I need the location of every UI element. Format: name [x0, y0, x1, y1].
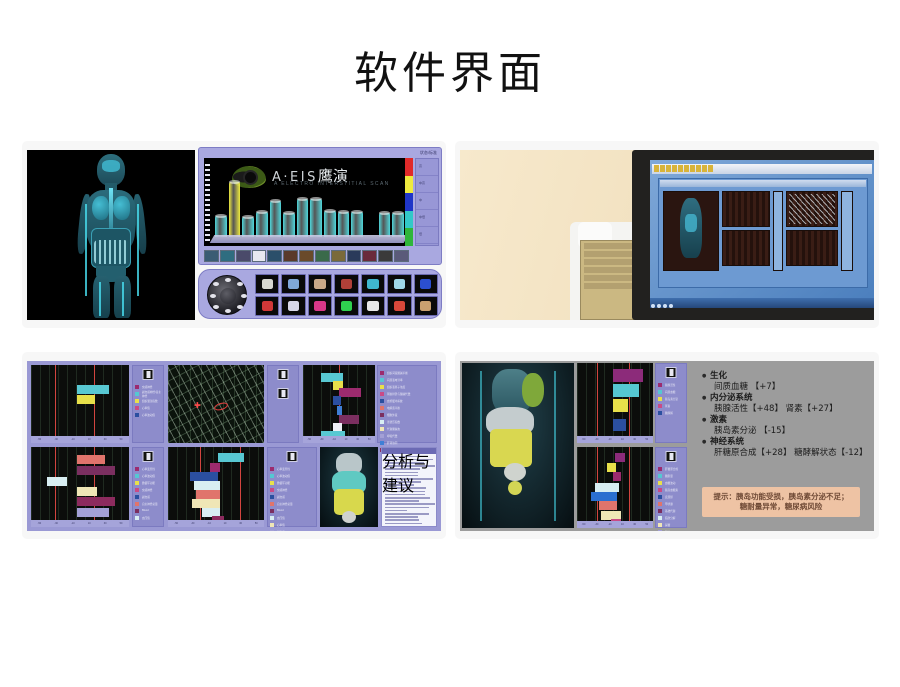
torso-3d-view[interactable]: [320, 447, 378, 527]
tool-glyph: [314, 279, 325, 289]
legend-swatch: [270, 488, 274, 492]
scale-swatch: [405, 176, 413, 194]
tool-icon-14[interactable]: [414, 296, 438, 316]
scale-row[interactable]: 中高: [416, 176, 438, 193]
legend-swatch: [658, 411, 662, 415]
legend-item[interactable]: 肝糖原合成: [656, 465, 686, 472]
legend-item[interactable]: 酮体: [656, 528, 686, 531]
chart-x-axis: -50-30-10103050: [303, 436, 375, 443]
tool-icon-10[interactable]: [308, 296, 332, 316]
legend-swatch: [135, 385, 139, 389]
vein-right: [554, 371, 556, 521]
report-text-line: [385, 523, 422, 525]
legend-swatch: [380, 434, 384, 438]
legend-panel-5[interactable]: 心率变异性心率波动值微循环功能交感神经副交感自主神经总量Blood血压值心率值代…: [267, 447, 317, 527]
os-titlebar: [652, 164, 872, 174]
interpretation-charts[interactable]: -50-30-10103050 -50-30-1010: [577, 363, 653, 528]
tool-icon-grid[interactable]: [255, 274, 438, 316]
scan-lines: [789, 194, 835, 224]
report-icon[interactable]: [278, 369, 289, 380]
tool-glyph: [262, 301, 273, 311]
legend-item[interactable]: Blood: [133, 507, 163, 514]
legend-item[interactable]: 代谢酸碱态: [378, 425, 436, 432]
tool-glyph: [288, 301, 299, 311]
legend-swatch: [658, 502, 662, 506]
tool-glyph: [420, 279, 431, 289]
chart-x-axis: -50-30-10103050: [577, 436, 653, 443]
bar: [599, 501, 617, 510]
chart-y-axis: [205, 164, 210, 242]
report-text-line: [385, 513, 429, 515]
bar: [192, 499, 220, 508]
bar: [215, 216, 227, 237]
bar: [77, 385, 109, 394]
legend-item[interactable]: 血压值: [268, 514, 316, 521]
avatar-vein-right: [137, 204, 139, 296]
pane-scan-a: [722, 191, 770, 227]
bar: [392, 213, 404, 237]
legend-swatch: [380, 427, 384, 431]
legend-item[interactable]: 胰岛素分泌: [656, 395, 686, 402]
chart-panel-2[interactable]: -50-30-10103050: [303, 365, 375, 443]
interpretation-legends[interactable]: 胰腺活性间质血糖胰岛素分泌肾素糖酵解 肝糖原合成糖耐量血糖波动胰高血糖素皮质醇甲…: [655, 363, 687, 528]
pane-grid-scan-2: [786, 230, 838, 266]
findings-list: 生化间质血糖 【+7】内分泌系统胰腺活性【+48】 肾素【+27】激素胰岛素分泌…: [702, 371, 868, 459]
bar: [338, 212, 350, 237]
bar: [351, 212, 363, 237]
aeis-chart-window[interactable]: 状态/标准 A·EIS鹰演 A ELECTRO INTERSTITIAL SCA…: [198, 147, 442, 265]
legend-swatch: [135, 502, 139, 506]
tool-glyph: [288, 279, 299, 289]
body-scan-viewport[interactable]: [27, 150, 195, 320]
report-header: 分析与建议: [382, 448, 436, 454]
chart-panel-3[interactable]: -50-30-10103050: [31, 447, 129, 527]
legend-swatch: [270, 495, 274, 499]
legend-swatch: [270, 523, 274, 527]
hint-line-2: 糖耐量异常，糖尿病风险: [706, 502, 856, 512]
scale-swatch: [405, 193, 413, 211]
legend-panel-2[interactable]: [267, 365, 299, 443]
pane-toolbar-a: [773, 191, 783, 271]
page-title: 软件界面: [0, 48, 900, 101]
davenport-diagram[interactable]: ✚: [168, 365, 264, 443]
legend-panel-3[interactable]: 组织间液酸碱平衡间质液电导率组织液离子浓度肾脏排泄与酸碱代偿血浆缓冲系统电解质平…: [377, 365, 437, 443]
avatar-vein-left: [85, 204, 87, 296]
thumbnail-item[interactable]: [267, 250, 282, 262]
legend-swatch: [135, 467, 139, 471]
legend-item[interactable]: 血糖波动: [656, 479, 686, 486]
bar: [595, 483, 619, 492]
scale-rows-panel[interactable]: 高中高中中低低: [415, 158, 439, 246]
chart-panel-5[interactable]: -50-30-10103050: [577, 363, 653, 443]
export-icon[interactable]: [278, 388, 289, 399]
tool-icon-9[interactable]: [281, 296, 305, 316]
bar: [615, 453, 625, 462]
legend-item[interactable]: 皮质醇: [656, 493, 686, 500]
legend-item[interactable]: 组织灌注指数: [133, 397, 163, 404]
legend-item[interactable]: 代谢率: [268, 528, 316, 531]
legend-item[interactable]: 心率波动值: [268, 472, 316, 479]
legend-item[interactable]: 肾脏排泄与酸碱代偿: [378, 390, 436, 397]
bar: [379, 213, 391, 237]
chart-panel-6[interactable]: -50-30-10103050: [577, 447, 653, 528]
bar: [270, 201, 282, 237]
legend-item[interactable]: 肾素: [656, 402, 686, 409]
chart-x-axis: -50-30-10103050: [31, 520, 129, 527]
chart-floor: [210, 235, 409, 243]
legend-swatch: [658, 509, 662, 513]
pane-body-view: [663, 191, 719, 271]
legend-item[interactable]: 糖酵解: [656, 409, 686, 416]
legend-swatch: [658, 488, 662, 492]
interpretation-canvas[interactable]: -50-30-10103050 -50-30-1010: [460, 361, 874, 531]
bar: [333, 396, 341, 405]
legend-swatch: [135, 399, 139, 403]
panel-aeis-main-ui[interactable]: 状态/标准 A·EIS鹰演 A ELECTRO INTERSTITIAL SCA…: [22, 141, 446, 328]
hint-box: 提示：胰岛功能受损，胰岛素分泌不足； 糖耐量异常，糖尿病风险: [702, 487, 860, 517]
legend-swatch: [380, 392, 384, 396]
tool-glyph: [394, 279, 405, 289]
bar: [77, 455, 105, 464]
avatar-leg-left: [93, 276, 110, 318]
bar: [77, 466, 115, 475]
legend-item[interactable]: 副交感: [133, 493, 163, 500]
chart-x-axis: -50-30-10103050: [31, 436, 129, 443]
chart-panel-4[interactable]: -50-30-10103050: [168, 447, 264, 527]
report-text-line: [385, 516, 418, 518]
pane-grid-scan: [786, 191, 838, 227]
davenport-marker: ✚: [194, 403, 201, 409]
bar: [77, 508, 109, 517]
legend-panel-1[interactable]: 交感神经副交感神经/自主神经组织灌注指数心率值心率波动值: [132, 365, 164, 443]
panel-dashboard[interactable]: -50-30-10103050 交感神经副交感神经/自主神经组织灌注指数心率值心…: [22, 352, 446, 539]
bar: [613, 369, 643, 382]
legend-panel-4[interactable]: 心率变异性心率波动值微循环功能交感神经副交感自主神经总量Blood血压值: [132, 447, 164, 527]
organ-bladder: [342, 511, 356, 523]
bar: [196, 490, 220, 499]
thumbnail-item[interactable]: [283, 250, 298, 262]
legend-swatch: [658, 474, 662, 478]
chart-grid: [31, 365, 129, 443]
monitor-avatar: [680, 198, 702, 258]
bar: [229, 182, 241, 237]
pane-toolbar-b: [841, 191, 853, 271]
legend-swatch: [135, 406, 139, 410]
report-text-line: [385, 510, 407, 512]
tool-glyph: [367, 301, 378, 311]
tool-icon-12[interactable]: [361, 296, 385, 316]
tool-glyph: [314, 301, 325, 311]
organ-intestine: [490, 429, 532, 467]
titlebar-icons: [654, 165, 713, 172]
legend-item[interactable]: 微循环功能: [133, 479, 163, 486]
legend-item[interactable]: 间质血糖: [656, 388, 686, 395]
tool-glyph: [341, 301, 352, 311]
legend-swatch: [270, 467, 274, 471]
legend-panel-6[interactable]: 胰腺活性间质血糖胰岛素分泌肾素糖酵解: [655, 363, 687, 443]
legend-item[interactable]: 交感神经: [268, 486, 316, 493]
monitor-bezel: [650, 160, 874, 308]
full-body-avatar: [63, 154, 159, 316]
bar: [613, 472, 621, 481]
thumbnail-item[interactable]: [347, 250, 362, 262]
tool-icon-7[interactable]: [414, 274, 438, 294]
bar: [613, 399, 628, 412]
legend-swatch: [658, 467, 662, 471]
tool-icon-6[interactable]: [387, 274, 411, 294]
scale-row[interactable]: 中低: [416, 210, 438, 227]
legend-item[interactable]: 胰高血糖素: [656, 486, 686, 493]
bar: [337, 406, 342, 415]
bar: [283, 213, 295, 237]
legend-swatch: [658, 495, 662, 499]
legend-swatch: [270, 516, 274, 520]
tool-glyph: [420, 301, 431, 311]
legend-item[interactable]: 肝肾协同: [378, 439, 436, 446]
report-text-line: [385, 500, 419, 502]
bar: [190, 472, 218, 481]
tool-icon-1[interactable]: [255, 274, 279, 294]
finding-title: 激素: [702, 415, 868, 426]
finding-detail: 胰岛素分泌 【-15】: [702, 426, 868, 437]
legend-item[interactable]: Blood: [268, 507, 316, 514]
torso-anatomy-view[interactable]: [462, 363, 574, 528]
chart-panel-1[interactable]: -50-30-10103050: [31, 365, 129, 443]
app-window: [658, 178, 868, 288]
thumbnail-item[interactable]: [378, 250, 393, 262]
vein-left: [480, 371, 482, 521]
bar: [324, 211, 336, 237]
legend-item[interactable]: 心率值: [133, 404, 163, 411]
bar: [77, 497, 115, 506]
bar: [591, 492, 617, 501]
legend-item[interactable]: 血压值: [133, 514, 163, 521]
finding-detail: 间质血糖 【+7】: [702, 382, 868, 393]
legend-item[interactable]: 心率变异性: [268, 465, 316, 472]
legend-item[interactable]: 糖耐量: [656, 472, 686, 479]
legend-swatch: [270, 474, 274, 478]
legend-item[interactable]: 组织液离子浓度: [378, 383, 436, 390]
legend-swatch: [135, 495, 139, 499]
report-icon[interactable]: [666, 367, 677, 378]
bar: [310, 199, 322, 237]
aeis-chart-canvas[interactable]: A·EIS鹰演 A ELECTRO INTERSTITIAL SCAN: [204, 158, 409, 246]
dashboard-canvas[interactable]: -50-30-10103050 交感神经副交感神经/自主神经组织灌注指数心率值心…: [27, 361, 441, 531]
legend-swatch: [380, 371, 384, 375]
legend-item[interactable]: 组织间液酸碱平衡: [378, 369, 436, 376]
panel-device-photo: [455, 141, 879, 328]
bar: [194, 481, 220, 490]
legend-swatch: [135, 481, 139, 485]
report-icon[interactable]: [287, 451, 298, 462]
legend-item[interactable]: 尿糖: [656, 521, 686, 528]
legend-swatch: [658, 523, 662, 527]
thumbnail-item[interactable]: [252, 250, 267, 262]
finding-title: 神经系统: [702, 437, 868, 448]
legend-item[interactable]: 微循环功能: [268, 479, 316, 486]
tool-icon-2[interactable]: [281, 274, 305, 294]
legend-item[interactable]: 间质液电导率: [378, 376, 436, 383]
legend-item[interactable]: 脂肪分解: [656, 514, 686, 521]
tool-icon-11[interactable]: [334, 296, 358, 316]
scale-title: 状态/标准: [420, 150, 437, 156]
bar: [218, 453, 244, 462]
legend-swatch: [380, 413, 384, 417]
scale-swatch: [405, 158, 413, 176]
legend-swatch: [658, 397, 662, 401]
legend-swatch: [658, 481, 662, 485]
scale-row[interactable]: 高: [416, 159, 438, 176]
report-text-line: [385, 497, 430, 499]
avatar-lung-right: [113, 196, 130, 220]
ref-line-high: [629, 447, 630, 528]
pane-scan-b: [722, 230, 770, 266]
interpretation-text: 生化间质血糖 【+7】内分泌系统胰腺活性【+48】 肾素【+27】激素胰岛素分泌…: [692, 361, 874, 531]
legend-swatch: [135, 516, 139, 520]
legend-swatch: [658, 390, 662, 394]
scale-row[interactable]: 低: [416, 227, 438, 244]
thumbnail-item[interactable]: [236, 250, 251, 262]
legend-item[interactable]: 自主神经总量: [133, 500, 163, 507]
report-text-line: [385, 507, 429, 509]
legend-swatch: [380, 420, 384, 424]
bar: [210, 463, 220, 472]
legend-swatch: [270, 502, 274, 506]
tool-icon-8[interactable]: [255, 296, 279, 316]
navigation-wheel-icon[interactable]: [207, 275, 247, 315]
color-scale-legend: [405, 158, 413, 246]
legend-swatch: [135, 488, 139, 492]
legend-item[interactable]: 心率波动值: [133, 411, 163, 418]
tool-icon-5[interactable]: [361, 274, 385, 294]
legend-item[interactable]: 渗透压指数: [378, 418, 436, 425]
chart-x-axis: -50-30-10103050: [168, 520, 264, 527]
bar: [339, 415, 359, 424]
tool-icon-13[interactable]: [387, 296, 411, 316]
avatar-face-highlight: [102, 160, 120, 172]
panel-interpretation[interactable]: -50-30-10103050 -50-30-1010: [455, 352, 879, 539]
tool-glyph: [262, 279, 273, 289]
ref-line-low: [55, 447, 56, 527]
tool-glyph: [341, 279, 352, 289]
bar: [77, 395, 95, 404]
finding-title: 生化: [702, 371, 868, 382]
legend-swatch: [658, 404, 662, 408]
legend-swatch: [658, 383, 662, 387]
scale-row[interactable]: 中: [416, 193, 438, 210]
finding-detail: 胰腺活性【+48】 肾素【+27】: [702, 404, 868, 415]
legend-swatch: [270, 509, 274, 513]
legend-item[interactable]: 基础代谢: [656, 507, 686, 514]
bar: [607, 463, 616, 472]
bar: [47, 477, 67, 486]
chart-x-axis: -50-30-10103050: [577, 521, 653, 528]
tool-icon-3[interactable]: [308, 274, 332, 294]
legend-swatch: [380, 406, 384, 410]
report-icon[interactable]: [666, 451, 677, 462]
legend-item[interactable]: 自主神经总量: [268, 500, 316, 507]
legend-item[interactable]: 副交感: [268, 493, 316, 500]
organ-prostate: [508, 481, 522, 495]
report-text-line: [385, 503, 435, 505]
toolbar-panel[interactable]: [198, 269, 442, 319]
legend-swatch: [380, 385, 384, 389]
report-text-line: [385, 519, 419, 521]
bar: [297, 199, 309, 237]
organ-bladder: [504, 463, 526, 481]
bar: [613, 419, 626, 431]
thumbnail-item[interactable]: [362, 250, 377, 262]
tool-icon-4[interactable]: [334, 274, 358, 294]
legend-item[interactable]: 呼吸代偿: [378, 432, 436, 439]
legend-swatch: [135, 413, 139, 417]
avatar-vein-leg-right: [122, 282, 124, 316]
bar: [339, 388, 361, 397]
legend-swatch: [135, 474, 139, 478]
legend-swatch: [658, 530, 662, 531]
legend-item[interactable]: 细胞外液: [378, 411, 436, 418]
scale-swatch: [405, 228, 413, 246]
legend-item[interactable]: 胰腺活性: [656, 381, 686, 388]
thumbnail-item[interactable]: [220, 250, 235, 262]
hint-line-1: 提示：胰岛功能受损，胰岛素分泌不足；: [706, 492, 856, 502]
tool-glyph: [367, 279, 378, 289]
ref-line-low: [597, 363, 598, 443]
legend-item[interactable]: 心率值: [268, 521, 316, 528]
thumbnail-item[interactable]: [299, 250, 314, 262]
thumbnail-item[interactable]: [204, 250, 219, 262]
legend-item[interactable]: 血浆缓冲系统: [378, 397, 436, 404]
ref-line-low: [55, 365, 56, 443]
finding-detail: 肝糖原合成【+28】 糖酵解状态【-12】: [702, 448, 868, 459]
legend-swatch: [135, 392, 139, 396]
legend-item[interactable]: 心率变异性: [133, 465, 163, 472]
legend-item[interactable]: 电解质平衡: [378, 404, 436, 411]
legend-item[interactable]: 交感神经: [133, 486, 163, 493]
clinic-photo: [460, 150, 874, 320]
report-icon[interactable]: [143, 369, 154, 380]
legend-swatch: [380, 399, 384, 403]
legend-item[interactable]: 心率波动值: [133, 472, 163, 479]
os-taskbar: [650, 298, 874, 308]
tool-glyph: [394, 301, 405, 311]
avatar-vein-leg-left: [99, 282, 101, 316]
thumbnail-item[interactable]: [315, 250, 330, 262]
thumbnail-item[interactable]: [331, 250, 346, 262]
thumbnail-strip[interactable]: [204, 250, 409, 262]
finding-title: 内分泌系统: [702, 393, 868, 404]
bar-chart-series: [214, 175, 405, 237]
legend-panel-7[interactable]: 肝糖原合成糖耐量血糖波动胰高血糖素皮质醇甲状腺基础代谢脂肪分解尿糖酮体胰岛β细胞: [655, 447, 687, 528]
report-text-panel[interactable]: 分析与建议: [381, 447, 437, 527]
monitor-device: [632, 150, 874, 320]
legend-swatch: [380, 441, 384, 445]
app-window-titlebar: [660, 180, 866, 187]
legend-item[interactable]: 副交感神经/自主神经: [133, 390, 163, 397]
legend-swatch: [380, 378, 384, 382]
monitor-screen: [650, 160, 874, 308]
organ-kidney-right: [522, 373, 544, 407]
legend-item[interactable]: 甲状腺: [656, 500, 686, 507]
slide-root: 软件界面: [0, 0, 900, 687]
bar: [77, 487, 97, 496]
avatar-lung-left: [92, 196, 109, 220]
bar: [256, 212, 268, 237]
avatar-intestine: [94, 240, 128, 264]
bar: [613, 384, 639, 397]
thumbnail-item[interactable]: [394, 250, 409, 262]
report-icon[interactable]: [143, 451, 154, 462]
